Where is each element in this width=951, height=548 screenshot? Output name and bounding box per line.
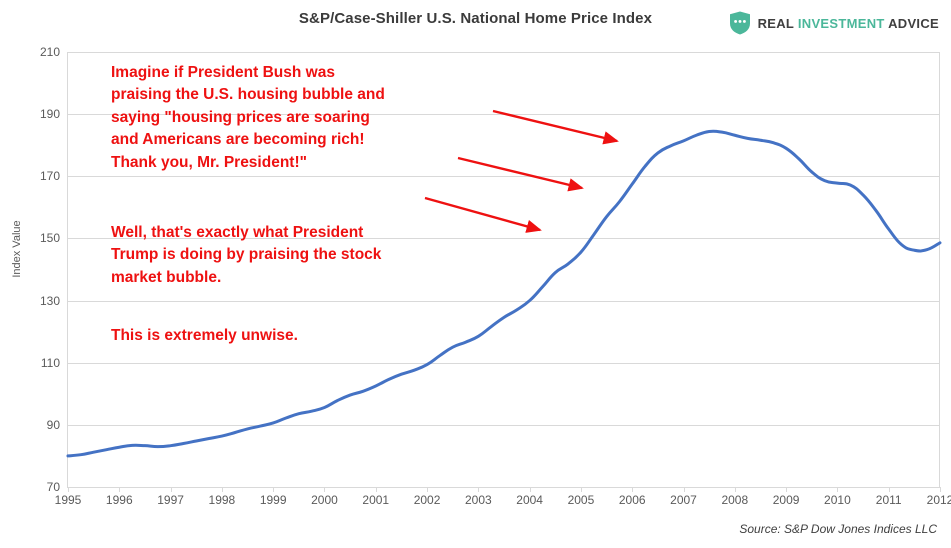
x-tick-label: 2000: [302, 493, 346, 507]
annotation-text-unwise: This is extremely unwise.: [111, 325, 298, 347]
x-axis-spine: [67, 487, 940, 488]
y-tick-label: 190: [26, 108, 60, 120]
y-axis-tick-labels: 7090110130150170190210: [22, 0, 60, 548]
x-tick-label: 2005: [559, 493, 603, 507]
x-tick-label: 1997: [149, 493, 193, 507]
x-tick-mark: [478, 487, 479, 492]
gridline: [68, 176, 940, 177]
gridline: [68, 301, 940, 302]
x-tick-mark: [786, 487, 787, 492]
y-tick-label: 90: [26, 419, 60, 431]
x-tick-label: 2004: [508, 493, 552, 507]
x-tick-label: 2007: [662, 493, 706, 507]
x-tick-label: 2011: [867, 493, 911, 507]
x-tick-mark: [171, 487, 172, 492]
x-tick-mark: [119, 487, 120, 492]
y-tick-label: 70: [26, 481, 60, 493]
x-tick-mark: [427, 487, 428, 492]
y-tick-label: 170: [26, 170, 60, 182]
x-tick-label: 1996: [97, 493, 141, 507]
x-tick-label: 2008: [713, 493, 757, 507]
gridline: [68, 52, 940, 53]
brand-word-real: REAL: [758, 16, 794, 31]
y-tick-label: 110: [26, 357, 60, 369]
x-tick-mark: [837, 487, 838, 492]
x-tick-label: 2002: [405, 493, 449, 507]
y-tick-label: 130: [26, 295, 60, 307]
x-tick-label: 2006: [610, 493, 654, 507]
x-tick-mark: [684, 487, 685, 492]
x-tick-label: 2010: [815, 493, 859, 507]
x-tick-mark: [581, 487, 582, 492]
x-tick-mark: [530, 487, 531, 492]
x-tick-label: 2003: [456, 493, 500, 507]
x-tick-mark: [222, 487, 223, 492]
x-tick-label: 2001: [354, 493, 398, 507]
x-tick-mark: [376, 487, 377, 492]
source-note: Source: S&P Dow Jones Indices LLC: [739, 522, 937, 536]
x-tick-label: 2012: [918, 493, 951, 507]
x-tick-mark: [273, 487, 274, 492]
gridline: [68, 363, 940, 364]
y-tick-label: 150: [26, 232, 60, 244]
x-tick-mark: [632, 487, 633, 492]
shield-dots-icon: [729, 11, 751, 35]
x-tick-mark: [735, 487, 736, 492]
x-tick-label: 1995: [46, 493, 90, 507]
annotation-text-bush: Imagine if President Bush was praising t…: [111, 62, 385, 174]
x-tick-label: 1999: [251, 493, 295, 507]
x-tick-mark: [324, 487, 325, 492]
y-tick-label: 210: [26, 46, 60, 58]
x-tick-label: 1998: [200, 493, 244, 507]
x-tick-mark: [940, 487, 941, 492]
gridline: [68, 425, 940, 426]
x-tick-mark: [68, 487, 69, 492]
brand-wordmark: REAL INVESTMENT ADVICE: [758, 16, 939, 31]
x-tick-mark: [889, 487, 890, 492]
brand-word-advice: ADVICE: [888, 16, 939, 31]
brand-logo: REAL INVESTMENT ADVICE: [729, 11, 939, 35]
brand-word-investment: INVESTMENT: [798, 16, 885, 31]
y-axis-title: Index Value: [11, 209, 23, 289]
annotation-text-trump: Well, that's exactly what President Trum…: [111, 222, 381, 289]
x-tick-label: 2009: [764, 493, 808, 507]
